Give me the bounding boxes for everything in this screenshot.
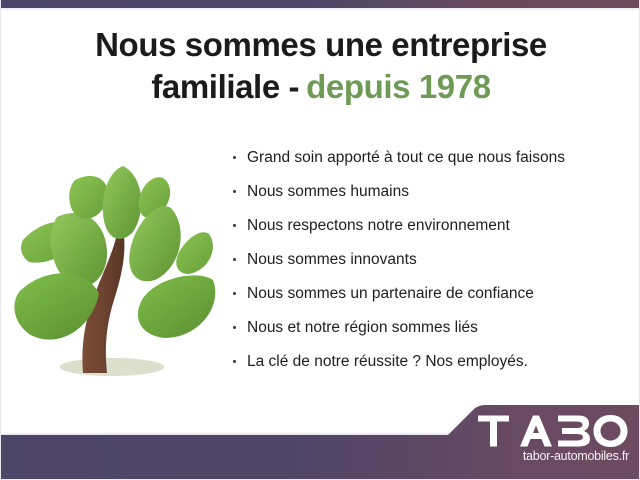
logo-letter-b (558, 416, 590, 447)
list-item: Nous sommes humains (230, 181, 630, 202)
logo-letter-o (594, 415, 628, 447)
list-item-label: La clé de notre réussite ? Nos employés. (247, 353, 528, 370)
logo-url-text[interactable]: tabor-automobiles.fr (478, 449, 630, 463)
bullet-dot-icon (233, 156, 236, 159)
bullet-dot-icon (233, 360, 236, 363)
logo-wordmark (478, 414, 630, 448)
tree-leaf (138, 275, 215, 338)
bullet-dot-icon (233, 224, 236, 227)
list-item: Nous respectons notre environnement (230, 215, 630, 236)
list-item: Nous sommes innovants (230, 249, 630, 270)
value-proposition-list: Grand soin apporté à tout ce que nous fa… (230, 147, 630, 385)
page-title-line-2: familiale -depuis 1978 (1, 66, 640, 108)
list-item: La clé de notre réussite ? Nos employés. (230, 351, 630, 372)
bullet-dot-icon (233, 292, 236, 295)
logo-letter-t (478, 416, 509, 447)
page-title-accent: depuis 1978 (306, 68, 491, 105)
page-title-line-2-primary: familiale - (151, 68, 299, 105)
tree-shadow (60, 358, 164, 376)
list-item: Grand soin apporté à tout ce que nous fa… (230, 147, 630, 168)
brand-logo[interactable]: tabor-automobiles.fr (478, 414, 630, 463)
bullet-dot-icon (233, 326, 236, 329)
top-accent-bar-shadow (1, 8, 640, 11)
list-item-label: Nous respectons notre environnement (247, 217, 510, 234)
bullet-dot-icon (233, 190, 236, 193)
page-title-line-1: Nous sommes une entreprise (1, 24, 640, 66)
tree-leaf (69, 176, 108, 219)
page-title: Nous sommes une entreprise familiale -de… (1, 24, 640, 107)
tree-leaf (103, 166, 142, 239)
slide-canvas: Nous sommes une entreprise familiale -de… (0, 0, 640, 480)
tree-leaf (176, 232, 213, 274)
logo-letter-a (520, 416, 552, 447)
list-item-label: Grand soin apporté à tout ce que nous fa… (247, 149, 565, 166)
bullet-dot-icon (233, 258, 236, 261)
tree-illustration (13, 152, 217, 392)
list-item-label: Nous et notre région sommes liés (247, 319, 478, 336)
top-accent-bar (1, 0, 640, 8)
list-item: Nous sommes un partenaire de confiance (230, 283, 630, 304)
list-item-label: Nous sommes un partenaire de confiance (247, 285, 534, 302)
list-item-label: Nous sommes humains (247, 183, 409, 200)
list-item-label: Nous sommes innovants (247, 251, 417, 268)
list-item: Nous et notre région sommes liés (230, 317, 630, 338)
